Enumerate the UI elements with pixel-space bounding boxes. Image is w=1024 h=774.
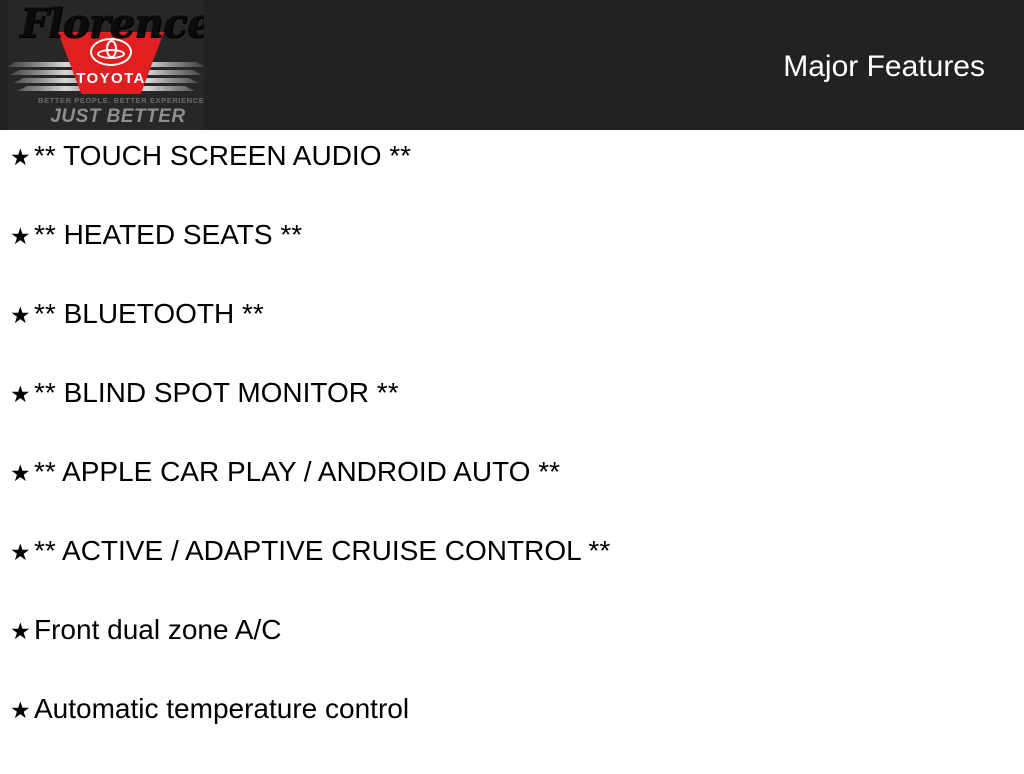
- feature-label: ** ACTIVE / ADAPTIVE CRUISE CONTROL **: [34, 537, 610, 565]
- logo-tagline-bottom: JUST BETTER: [38, 106, 198, 128]
- star-icon: ★: [10, 383, 34, 406]
- list-item: ★ ** TOUCH SCREEN AUDIO **: [0, 130, 1024, 221]
- star-icon: ★: [10, 462, 34, 485]
- toyota-brand-word: TOYOTA: [58, 70, 164, 87]
- feature-label: ** BLIND SPOT MONITOR **: [34, 379, 399, 407]
- feature-label: Front dual zone A/C: [34, 616, 281, 644]
- dealer-logo[interactable]: TOYOTA Florence BETTER PEOPLE. BETTER EX…: [8, 0, 204, 130]
- florence-script-wordmark: Florence: [20, 2, 204, 46]
- list-item: ★ ** BLUETOOTH **: [0, 300, 1024, 379]
- list-item: ★ ** HEATED SEATS **: [0, 221, 1024, 300]
- star-icon: ★: [10, 304, 34, 327]
- logo-artwork: TOYOTA Florence BETTER PEOPLE. BETTER EX…: [8, 0, 204, 130]
- star-icon: ★: [10, 699, 34, 722]
- feature-label: ** BLUETOOTH **: [34, 300, 264, 328]
- list-item: ★ ** ACTIVE / ADAPTIVE CRUISE CONTROL **: [0, 537, 1024, 616]
- page-title: Major Features: [783, 50, 985, 84]
- feature-label: Automatic temperature control: [34, 695, 409, 723]
- star-icon: ★: [10, 620, 34, 643]
- feature-label: ** TOUCH SCREEN AUDIO **: [34, 142, 411, 170]
- list-item: ★ Automatic temperature control: [0, 695, 1024, 774]
- feature-label: ** HEATED SEATS **: [34, 221, 302, 249]
- logo-tagline-top: BETTER PEOPLE. BETTER EXPERIENCE.: [38, 96, 198, 105]
- list-item: ★ ** BLIND SPOT MONITOR **: [0, 379, 1024, 458]
- star-icon: ★: [10, 225, 34, 248]
- list-item: ★ ** APPLE CAR PLAY / ANDROID AUTO **: [0, 458, 1024, 537]
- features-list: ★ ** TOUCH SCREEN AUDIO ** ★ ** HEATED S…: [0, 130, 1024, 774]
- page-header: TOYOTA Florence BETTER PEOPLE. BETTER EX…: [0, 0, 1024, 130]
- star-icon: ★: [10, 146, 34, 169]
- list-item: ★ Front dual zone A/C: [0, 616, 1024, 695]
- star-icon: ★: [10, 541, 34, 564]
- feature-label: ** APPLE CAR PLAY / ANDROID AUTO **: [34, 458, 560, 486]
